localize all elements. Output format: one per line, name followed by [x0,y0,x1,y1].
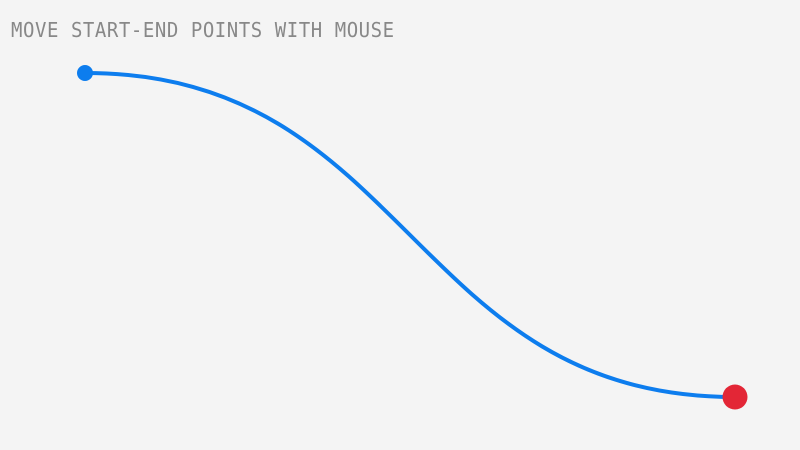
sketch-canvas[interactable]: MOVE START-END POINTS WITH MOUSE [0,0,800,450]
start-point-drag-target[interactable] [70,58,101,89]
end-point-drag-target[interactable] [718,380,753,415]
bezier-curve-path [85,73,735,397]
bezier-curve-stage[interactable] [0,0,800,450]
